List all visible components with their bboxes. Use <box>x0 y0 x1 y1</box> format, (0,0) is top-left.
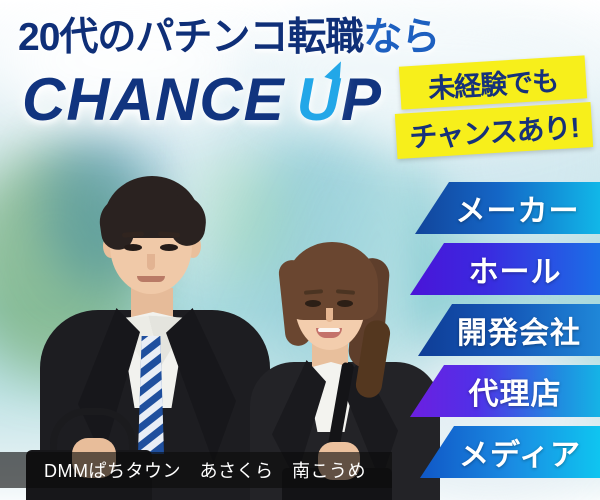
photo-credit-caption: DMMぱちタウン あさくら 南こうめ <box>0 452 392 488</box>
headline-tail: なら <box>363 16 439 59</box>
logo-word-chance: CHANCE <box>22 66 285 133</box>
female-teeth <box>318 328 340 332</box>
logo-letter-u-arrow-icon: U <box>297 70 341 130</box>
male-eye-right <box>160 244 178 251</box>
male-nose <box>147 254 155 270</box>
female-eye-right <box>337 300 353 307</box>
female-nose <box>326 308 333 322</box>
logo-letter-p: P <box>341 66 382 133</box>
female-eye-left <box>305 300 321 307</box>
headline: 20代のパチンコ転職なら <box>18 18 439 57</box>
male-eye-left <box>124 244 142 251</box>
models-photo <box>0 150 420 500</box>
chance-up-logo: CHANCEUP <box>22 70 382 130</box>
male-necktie <box>138 336 164 454</box>
male-mouth <box>137 276 165 282</box>
promo-banner: 20代のパチンコ転職なら CHANCEUP 未経験でも チャンスあり! メーカー… <box>0 0 600 500</box>
male-hair-side-right <box>169 194 209 248</box>
headline-main: 20代のパチンコ転職 <box>18 16 363 59</box>
